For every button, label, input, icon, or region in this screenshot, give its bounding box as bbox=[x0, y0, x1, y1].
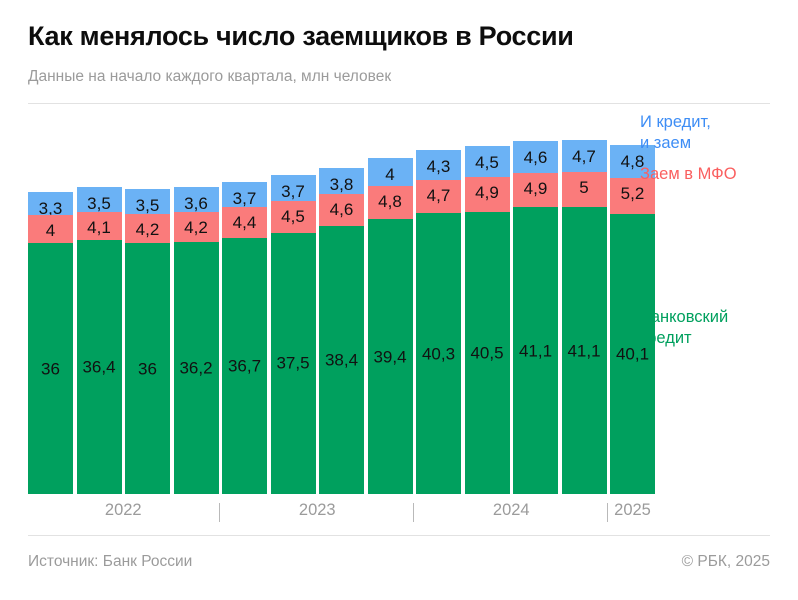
bar-value-label: 5 bbox=[562, 179, 607, 196]
bar-column[interactable]: 3,54,236 bbox=[125, 189, 170, 494]
stacked-bar-plot: 3,34363,54,136,43,54,2363,64,236,23,74,4… bbox=[28, 104, 632, 494]
bar-column[interactable]: 4,34,740,3 bbox=[416, 150, 461, 494]
bar-segment-mfo_loan[interactable]: 4,4 bbox=[222, 207, 267, 238]
bar-value-label: 40,5 bbox=[465, 344, 510, 361]
axis-year-2024: 2024 bbox=[416, 501, 607, 520]
page-subtitle: Данные на начало каждого квартала, млн ч… bbox=[28, 52, 770, 87]
bar-segment-mfo_loan[interactable]: 4,2 bbox=[125, 214, 170, 243]
bar-value-label: 36,7 bbox=[222, 358, 267, 375]
bar-segment-bank_credit[interactable]: 39,4 bbox=[368, 219, 413, 494]
bar-value-label: 4,1 bbox=[77, 219, 122, 236]
bar-segment-bank_credit[interactable]: 37,5 bbox=[271, 233, 316, 495]
bar-column[interactable]: 4,54,940,5 bbox=[465, 146, 510, 494]
bar-value-label: 38,4 bbox=[319, 352, 364, 369]
bar-value-label: 4 bbox=[28, 222, 73, 239]
bar-value-label: 4,9 bbox=[513, 180, 558, 197]
bar-segment-both[interactable]: 4,5 bbox=[465, 146, 510, 177]
bar-segment-both[interactable]: 4,3 bbox=[416, 150, 461, 180]
bar-segment-bank_credit[interactable]: 36,4 bbox=[77, 240, 122, 494]
bar-value-label: 4,5 bbox=[465, 154, 510, 171]
bar-value-label: 4,8 bbox=[368, 193, 413, 210]
footer: Источник: Банк России © РБК, 2025 bbox=[28, 536, 770, 571]
bar-value-label: 4,5 bbox=[271, 208, 316, 225]
bar-segment-mfo_loan[interactable]: 4 bbox=[28, 215, 73, 243]
bar-segment-bank_credit[interactable]: 38,4 bbox=[319, 226, 364, 494]
bar-segment-bank_credit[interactable]: 40,5 bbox=[465, 212, 510, 495]
bar-value-label: 4,9 bbox=[465, 184, 510, 201]
bar-value-label: 4,3 bbox=[416, 158, 461, 175]
bar-segment-bank_credit[interactable]: 36 bbox=[28, 243, 73, 494]
bar-segment-both[interactable]: 3,3 bbox=[28, 192, 73, 215]
bar-value-label: 37,5 bbox=[271, 355, 316, 372]
legend-item-bank-credit: Банковский кредит bbox=[640, 307, 728, 349]
bar-segment-bank_credit[interactable]: 36,7 bbox=[222, 238, 267, 494]
axis-year-separator bbox=[413, 503, 414, 522]
bar-segment-bank_credit[interactable]: 40,3 bbox=[416, 213, 461, 494]
bar-segment-mfo_loan[interactable]: 4,9 bbox=[513, 173, 558, 207]
axis-year-separator bbox=[607, 503, 608, 522]
bar-value-label: 40,3 bbox=[416, 345, 461, 362]
bar-segment-mfo_loan[interactable]: 4,2 bbox=[174, 212, 219, 241]
infographic-root: Как менялось число заемщиков в России Да… bbox=[0, 0, 798, 600]
bar-value-label: 36 bbox=[125, 360, 170, 377]
bar-segment-mfo_loan[interactable]: 4,5 bbox=[271, 201, 316, 232]
bar-value-label: 36,2 bbox=[174, 359, 219, 376]
bar-value-label: 3,5 bbox=[77, 195, 122, 212]
bar-segment-both[interactable]: 3,6 bbox=[174, 187, 219, 212]
bar-column[interactable]: 3,3436 bbox=[28, 192, 73, 494]
bar-value-label: 3,6 bbox=[174, 195, 219, 212]
bar-column[interactable]: 4,7541,1 bbox=[562, 140, 607, 495]
bar-value-label: 39,4 bbox=[368, 348, 413, 365]
page-title: Как менялось число заемщиков в России bbox=[28, 0, 770, 52]
bar-segment-mfo_loan[interactable]: 5 bbox=[562, 172, 607, 207]
source-label: Источник: Банк России bbox=[28, 553, 192, 571]
bar-segment-bank_credit[interactable]: 36,2 bbox=[174, 242, 219, 495]
bar-column[interactable]: 3,54,136,4 bbox=[77, 187, 122, 494]
bar-value-label: 3,7 bbox=[222, 190, 267, 207]
axis-year-2025: 2025 bbox=[610, 501, 655, 520]
bar-column[interactable]: 3,74,537,5 bbox=[271, 175, 316, 494]
bar-segment-bank_credit[interactable]: 40,1 bbox=[610, 214, 655, 494]
bar-segment-both[interactable]: 4,7 bbox=[562, 140, 607, 173]
bar-segment-both[interactable]: 3,8 bbox=[319, 168, 364, 195]
bar-value-label: 4 bbox=[368, 166, 413, 183]
bar-column[interactable]: 3,64,236,2 bbox=[174, 187, 219, 494]
bar-value-label: 4,2 bbox=[125, 221, 170, 238]
bar-value-label: 36 bbox=[28, 360, 73, 377]
bar-value-label: 5,2 bbox=[610, 185, 655, 202]
bar-segment-mfo_loan[interactable]: 4,8 bbox=[368, 186, 413, 220]
bar-value-label: 41,1 bbox=[562, 342, 607, 359]
bar-column[interactable]: 3,74,436,7 bbox=[222, 182, 267, 495]
bar-column[interactable]: 4,64,941,1 bbox=[513, 141, 558, 494]
bar-value-label: 36,4 bbox=[77, 359, 122, 376]
bar-value-label: 4,2 bbox=[174, 219, 219, 236]
bar-segment-mfo_loan[interactable]: 4,1 bbox=[77, 212, 122, 241]
bar-value-label: 3,8 bbox=[319, 176, 364, 193]
bar-value-label: 41,1 bbox=[513, 342, 558, 359]
copyright-label: © РБК, 2025 bbox=[682, 553, 770, 571]
axis-year-2023: 2023 bbox=[222, 501, 413, 520]
bar-segment-mfo_loan[interactable]: 4,7 bbox=[416, 180, 461, 213]
legend-item-mfo-loan: Заем в МФО bbox=[640, 164, 737, 185]
bar-value-label: 4,7 bbox=[562, 148, 607, 165]
x-axis: 2022202320242025 bbox=[28, 494, 632, 528]
bar-segment-mfo_loan[interactable]: 4,6 bbox=[319, 194, 364, 226]
bar-value-label: 4,6 bbox=[513, 149, 558, 166]
legend-item-both: И кредит, и заем bbox=[640, 112, 711, 154]
bar-segment-bank_credit[interactable]: 41,1 bbox=[513, 207, 558, 494]
bar-segment-both[interactable]: 3,7 bbox=[271, 175, 316, 201]
bar-value-label: 4,4 bbox=[222, 214, 267, 231]
bar-column[interactable]: 44,839,4 bbox=[368, 158, 413, 494]
bar-segment-bank_credit[interactable]: 41,1 bbox=[562, 207, 607, 494]
bar-value-label: 4,6 bbox=[319, 201, 364, 218]
bar-value-label: 3,5 bbox=[125, 197, 170, 214]
bar-column[interactable]: 3,84,638,4 bbox=[319, 168, 364, 495]
bar-segment-both[interactable]: 4,6 bbox=[513, 141, 558, 173]
bar-segment-both[interactable]: 4 bbox=[368, 158, 413, 186]
bar-segment-both[interactable]: 3,7 bbox=[222, 182, 267, 208]
bar-segment-bank_credit[interactable]: 36 bbox=[125, 243, 170, 494]
axis-year-2022: 2022 bbox=[28, 501, 219, 520]
bar-value-label: 4,7 bbox=[416, 187, 461, 204]
chart-area: 3,34363,54,136,43,54,2363,64,236,23,74,4… bbox=[28, 104, 770, 494]
bar-value-label: 3,7 bbox=[271, 183, 316, 200]
bar-segment-both[interactable]: 3,5 bbox=[77, 187, 122, 211]
bar-segment-both[interactable]: 3,5 bbox=[125, 189, 170, 213]
bar-segment-mfo_loan[interactable]: 4,9 bbox=[465, 177, 510, 211]
axis-year-separator bbox=[219, 503, 220, 522]
